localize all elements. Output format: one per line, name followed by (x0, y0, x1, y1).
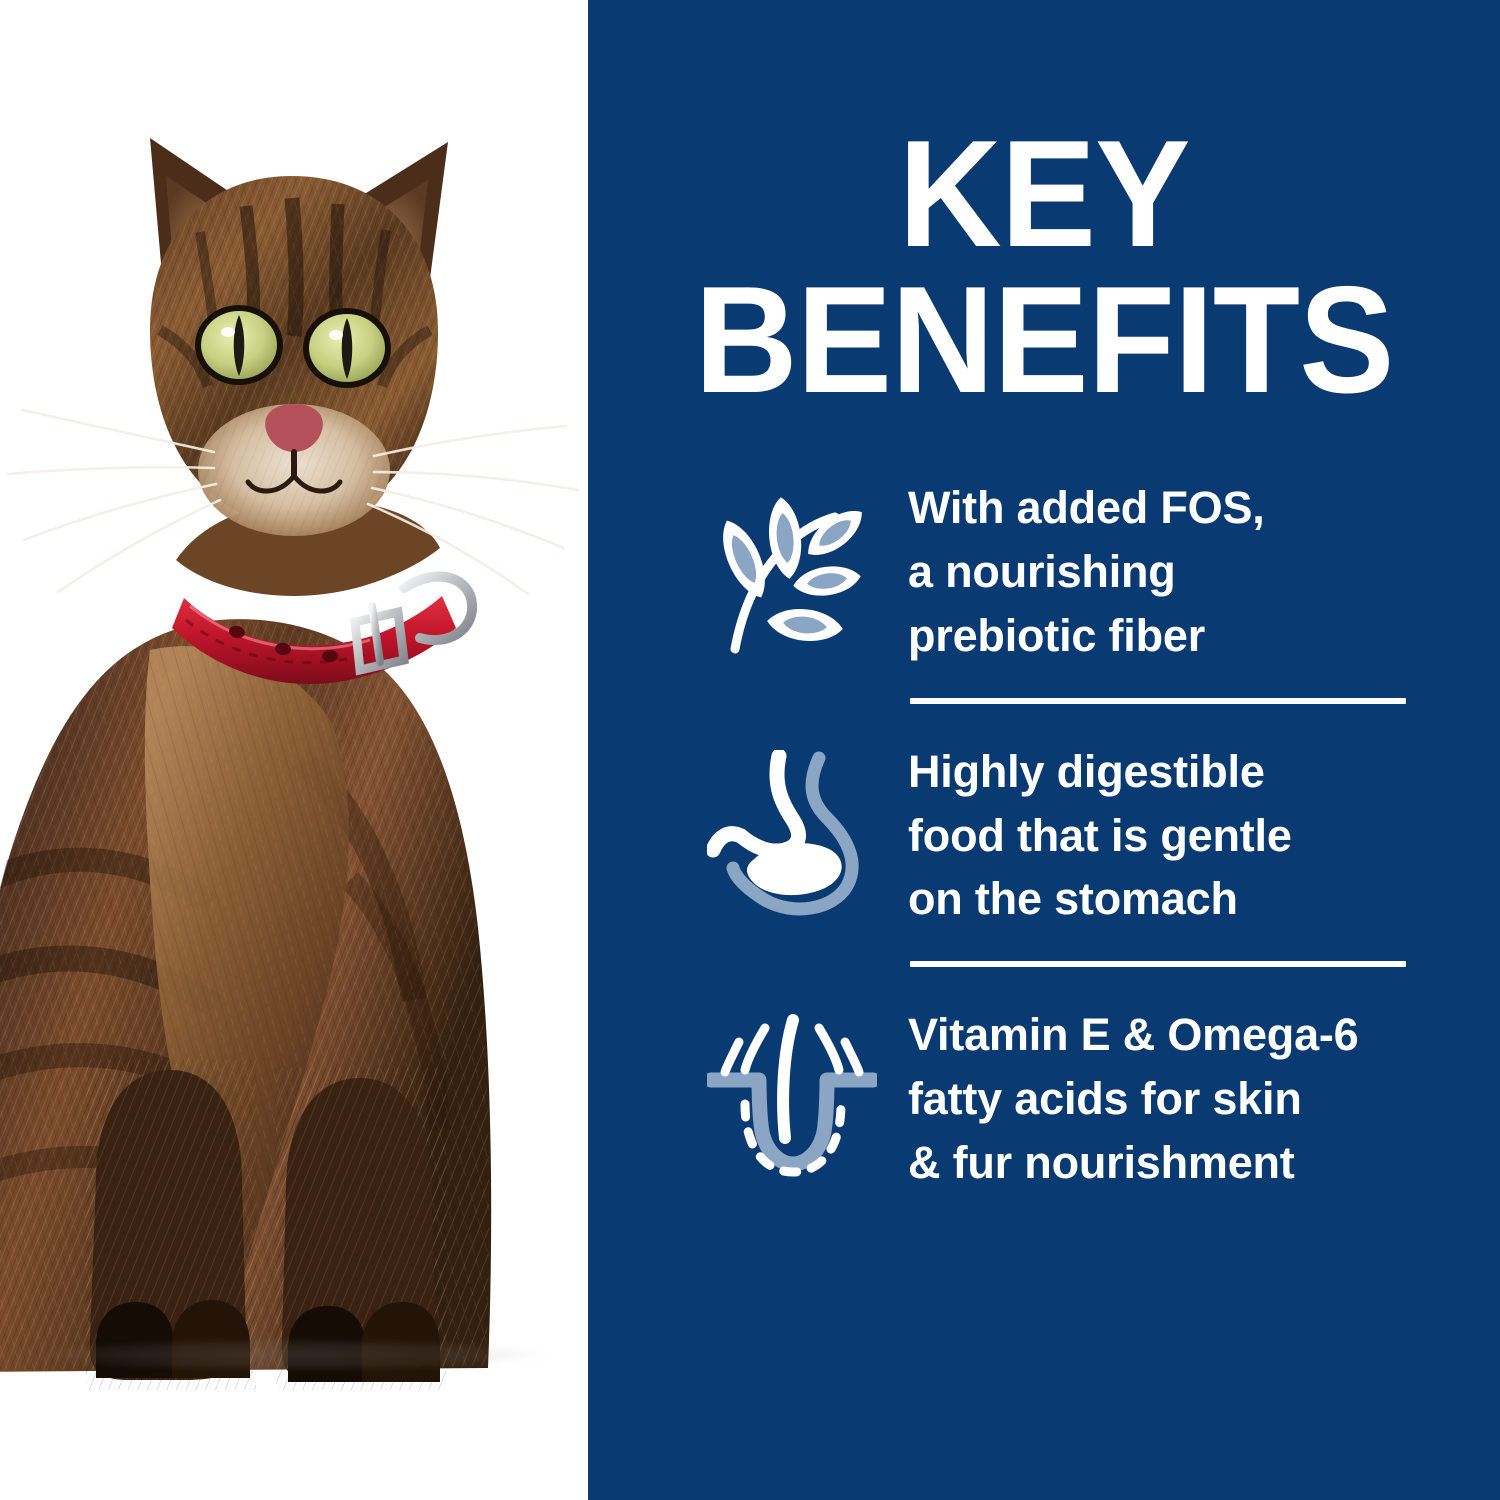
page-title-line-1: KEY (632, 122, 1455, 268)
benefit-line: a nourishing (908, 540, 1428, 604)
benefit-item-digestibility: Highly digestible food that is gentle on… (676, 734, 1428, 932)
benefit-divider-2 (910, 961, 1406, 967)
cat-body (0, 600, 560, 1420)
cat-head (8, 138, 578, 594)
cat-illustration (0, 0, 588, 1500)
benefit-line: With added FOS, (908, 476, 1428, 540)
page-title-line-2: BENEFITS (632, 268, 1455, 414)
benefit-line: food that is gentle (908, 804, 1428, 868)
benefit-line: prebiotic fiber (908, 604, 1428, 668)
cat-ground-shadow (30, 1338, 550, 1372)
benefit-line: fatty acids for skin (908, 1067, 1428, 1131)
cat-photo (0, 0, 588, 1500)
stomach-icon (676, 734, 908, 930)
hair-follicle-icon (676, 997, 908, 1193)
page-title: KEY BENEFITS (615, 122, 1472, 414)
benefit-item-prebiotic-fiber: With added FOS, a nourishing prebiotic f… (676, 470, 1428, 668)
benefit-divider-1 (910, 698, 1406, 704)
benefit-line: Vitamin E & Omega-6 (908, 1003, 1428, 1067)
benefit-item-skin-and-fur: Vitamin E & Omega-6 fatty acids for skin… (676, 997, 1428, 1195)
benefit-list: With added FOS, a nourishing prebiotic f… (676, 470, 1428, 1195)
benefit-text-skin-and-fur: Vitamin E & Omega-6 fatty acids for skin… (908, 997, 1428, 1195)
benefit-line: & fur nourishment (908, 1131, 1428, 1195)
benefit-text-prebiotic-fiber: With added FOS, a nourishing prebiotic f… (908, 470, 1428, 668)
benefit-text-digestibility: Highly digestible food that is gentle on… (908, 734, 1428, 932)
cat-photo-panel (0, 0, 588, 1500)
leaf-sprig-icon (676, 470, 908, 666)
benefits-panel: KEY BENEFITS (588, 0, 1500, 1500)
key-benefits-infographic: KEY BENEFITS (0, 0, 1500, 1500)
benefit-line: Highly digestible (908, 740, 1428, 804)
benefit-line: on the stomach (908, 867, 1428, 931)
